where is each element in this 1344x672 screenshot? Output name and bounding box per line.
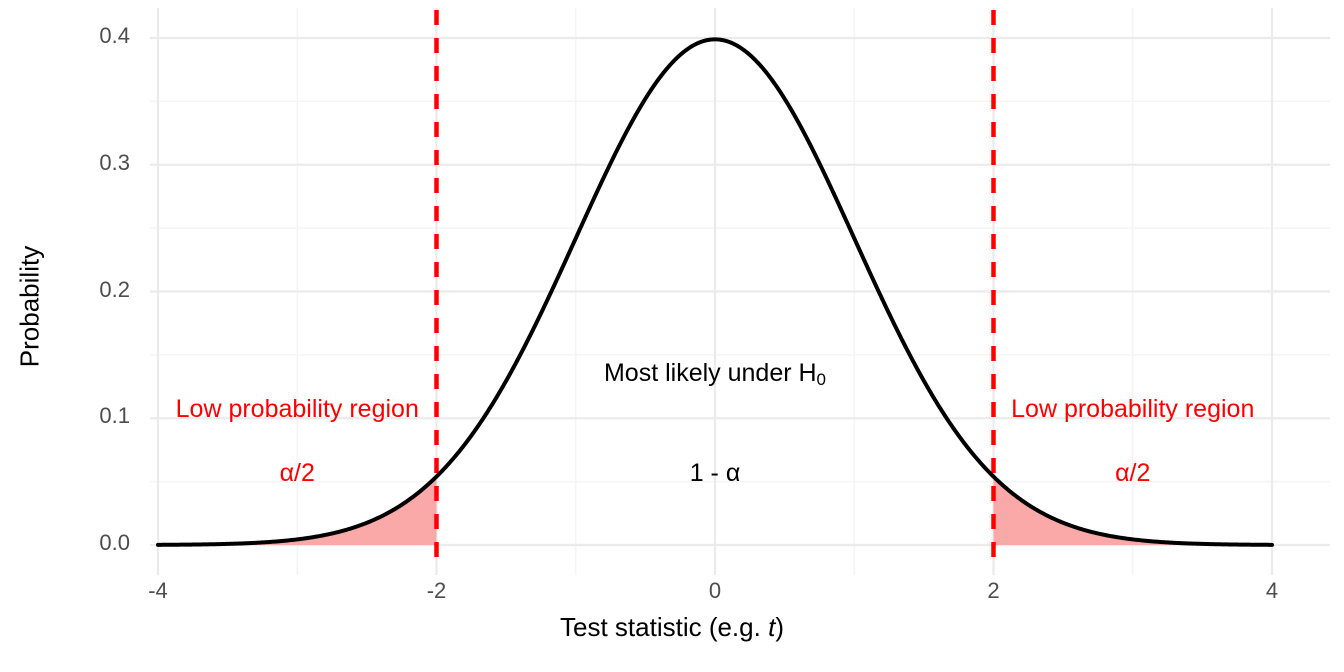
x-axis-title-suffix: ) [775, 612, 784, 642]
x-tick-label: 4 [1232, 578, 1312, 604]
plot-canvas [0, 0, 1344, 672]
x-tick-label: 2 [954, 578, 1034, 604]
right-low-probability-label: Low probability region [833, 395, 1344, 424]
left-low-probability-label: Low probability region [0, 395, 597, 424]
grid-major-lines [150, 8, 1330, 575]
x-tick-label: -2 [397, 578, 477, 604]
center-label-main: Most likely under H [604, 359, 817, 387]
one-minus-alpha-label: 1 - α [415, 459, 1015, 488]
statistics-figure: Test statistic (e.g. t) Probability -4-2… [0, 0, 1344, 672]
y-tick-label: 0.4 [40, 23, 130, 49]
x-axis-title: Test statistic (e.g. t) [0, 612, 1344, 643]
y-tick-label: 0.3 [40, 150, 130, 176]
x-tick-label: 0 [675, 578, 755, 604]
y-tick-label: 0.2 [40, 277, 130, 303]
most-likely-under-h0-label: Most likely under H0 [415, 359, 1015, 388]
x-axis-title-prefix: Test statistic (e.g. [560, 612, 768, 642]
center-label-subscript: 0 [817, 370, 826, 389]
x-tick-label: -4 [118, 578, 198, 604]
y-tick-label: 0.0 [40, 530, 130, 556]
